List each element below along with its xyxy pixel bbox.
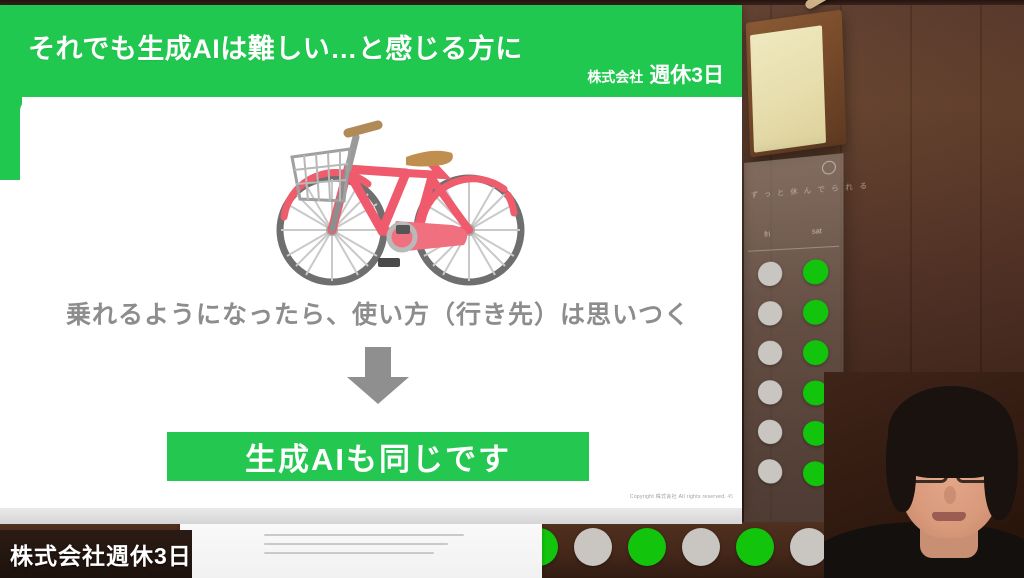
preview-line: [264, 552, 434, 554]
conclusion-banner: 生成AIも同じです: [167, 432, 589, 481]
poster-dot-gray: [758, 261, 782, 286]
next-slide-text-lines: [264, 534, 464, 561]
poster-dot-gray: [758, 301, 782, 326]
shared-slide[interactable]: それでも生成AIは難しい…と感じる方に 株式会社 週休3日: [0, 5, 742, 510]
desk-dot-gray: [682, 528, 720, 566]
poster-dot-gray: [758, 459, 782, 485]
presenter-nose: [944, 486, 956, 504]
slide-left-accent: [0, 5, 22, 180]
desk-dot-gray: [790, 528, 828, 566]
poster-column-sat: sat: [812, 228, 822, 236]
preview-line: [264, 534, 464, 536]
slide-copyright: Copyright 株式会社 All rights reserved.: [630, 493, 726, 500]
desk-dot-gray: [574, 528, 612, 566]
preview-line: [264, 543, 448, 545]
conclusion-text: 生成AIも同じです: [245, 434, 511, 479]
poster-dot-gray: [758, 380, 782, 405]
slide-page-number: 45: [727, 494, 733, 500]
slide-title: それでも生成AIは難しい…と感じる方に: [28, 27, 523, 66]
poster-dot-green: [803, 259, 828, 285]
note-paper: [750, 25, 826, 153]
poster-dot-green: [803, 299, 828, 324]
circle-logo-icon: [822, 160, 836, 175]
company-name: 週休3日: [649, 59, 724, 89]
video-call-screen: ず っ と 休 ん で ら れ る fri sat それでも生成AIは難しい…と…: [0, 0, 1024, 578]
slide-bottom-shelf: [0, 508, 742, 524]
poster-column-headers: fri sat: [744, 227, 843, 240]
presenter-name-banner: 株式会社週休3日: [0, 530, 192, 578]
poster-column-fri: fri: [764, 231, 770, 238]
presenter-hair-left: [886, 420, 916, 512]
desk-dot-green: [736, 528, 774, 566]
company-prefix: 株式会社: [587, 67, 643, 87]
desk-dot-green: [628, 528, 666, 566]
presenter-name: 株式会社週休3日: [0, 537, 192, 571]
presenter-video-tile[interactable]: [824, 372, 1024, 578]
slide-white-card: 乗れるようになったら、使い方（行き先）は思いつく 生成AIも同じです Copyr…: [20, 99, 736, 504]
arrow-down-icon: [345, 347, 411, 405]
desk-dot-row: [520, 528, 828, 566]
bicycle-illustration: [256, 113, 546, 293]
poster-dot-green: [803, 340, 828, 365]
presenter-mouth: [932, 512, 966, 521]
poster-divider: [748, 246, 839, 252]
poster-dot-gray: [758, 419, 782, 444]
slide-caption: 乗れるようになったら、使い方（行き先）は思いつく: [20, 295, 736, 331]
poster-dot-gray: [758, 341, 782, 365]
slide-company-subtitle: 株式会社 週休3日: [587, 59, 724, 89]
